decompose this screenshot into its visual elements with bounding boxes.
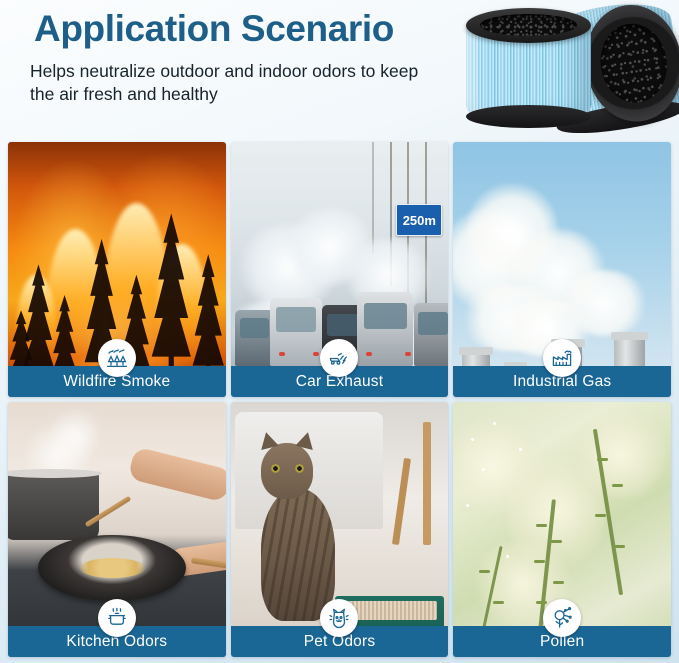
application-scenario-infographic: Application Scenario Helps neutralize ou… [0, 0, 679, 663]
factory-icon [543, 339, 581, 377]
scenario-card-industrial-gas[interactable]: Industrial Gas [453, 142, 671, 397]
filter-carbon-granules [480, 14, 578, 36]
header: Application Scenario Helps neutralize ou… [0, 0, 679, 142]
scenario-card-wildfire-smoke[interactable]: Wildfire Smoke [8, 142, 226, 397]
scenario-card-kitchen-odors[interactable]: Kitchen Odors [8, 402, 226, 657]
cooking-pot-icon [98, 599, 136, 637]
scenario-card-pollen[interactable]: Pollen [453, 402, 671, 657]
car-exhaust-icon [320, 339, 358, 377]
filter-front [466, 10, 591, 126]
product-image-hepa-filters [452, 2, 679, 134]
scenario-card-pet-odors[interactable]: Pet Odors [231, 402, 449, 657]
wildfire-smoke-icon [98, 339, 136, 377]
filter-carbon-granules [595, 19, 672, 108]
pollen-dandelion-icon [543, 599, 581, 637]
filter-top-ring [466, 8, 591, 43]
filter-bottom-rim [466, 105, 591, 128]
scenario-card-car-exhaust[interactable]: 250m Car Exhaust [231, 142, 449, 397]
page-subtitle: Helps neutralize outdoor and indoor odor… [30, 60, 420, 107]
scenario-grid: Wildfire Smoke 250m [8, 142, 671, 657]
pet-face-icon [320, 599, 358, 637]
page-title: Application Scenario [34, 8, 394, 50]
road-sign-250m: 250m [396, 204, 442, 236]
